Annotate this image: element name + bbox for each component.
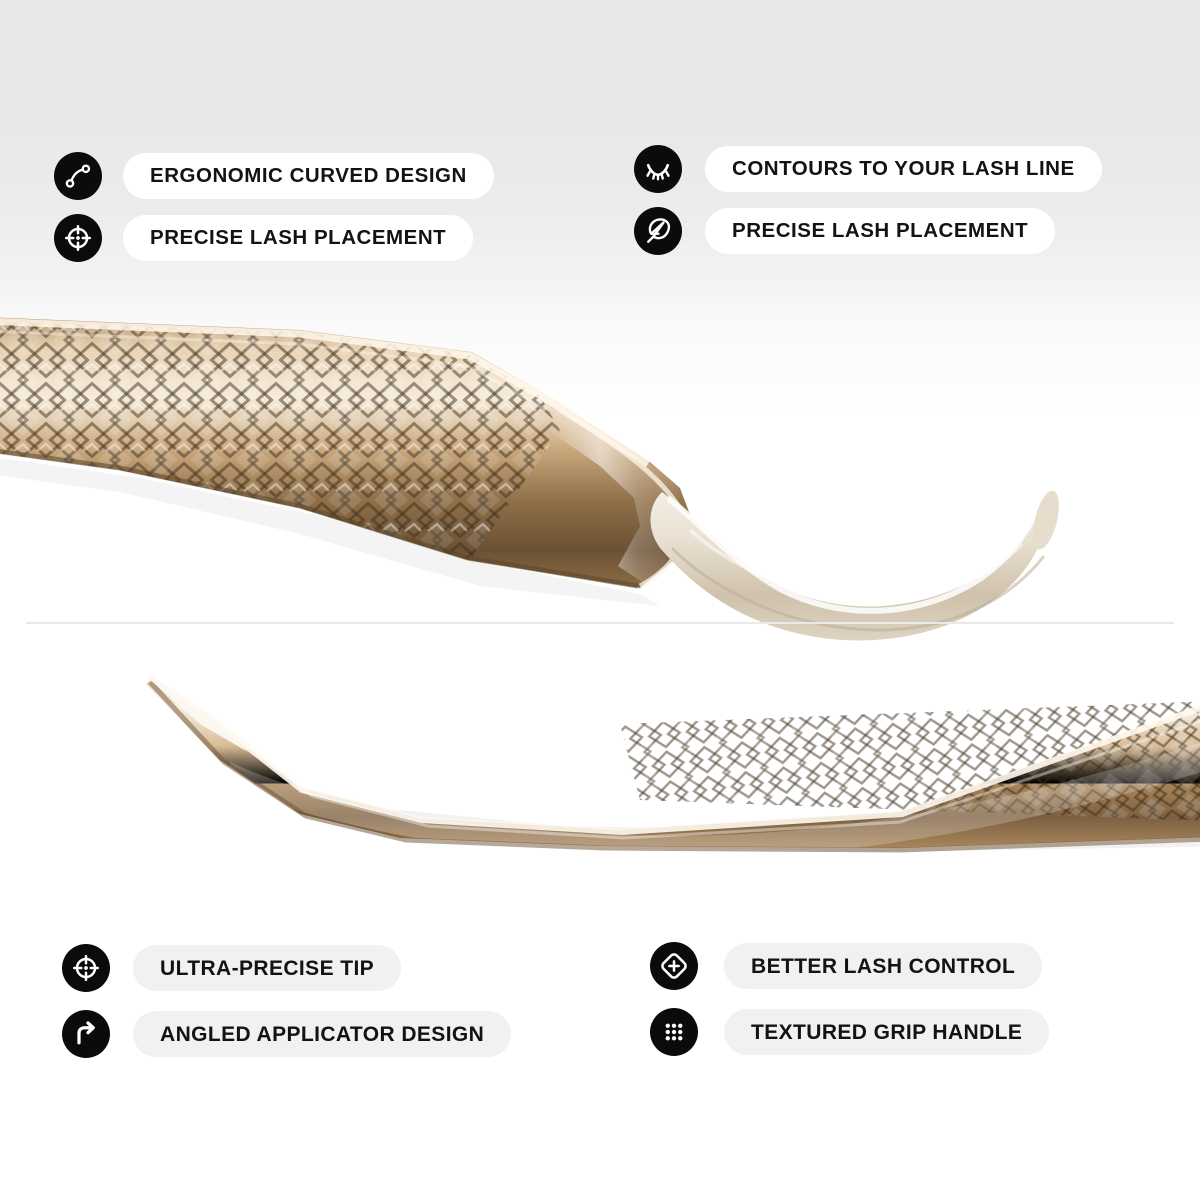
feature-pill[interactable]: BETTER LASH CONTROL (724, 943, 1042, 989)
feature-group-bottom-right: BETTER LASH CONTROL TEXTURED GRIP HANDLE (650, 942, 1049, 1056)
feature-label: ULTRA-PRECISE TIP (160, 958, 374, 979)
feature-row[interactable]: TEXTURED GRIP HANDLE (650, 1008, 1049, 1056)
feature-label: PRECISE LASH PLACEMENT (732, 221, 1028, 242)
feature-label: BETTER LASH CONTROL (751, 956, 1015, 977)
dot-grid-icon (650, 1008, 698, 1056)
feature-pill[interactable]: PRECISE LASH PLACEMENT (123, 215, 473, 261)
feature-row[interactable]: CONTOURS TO YOUR LASH LINE (634, 145, 1102, 193)
feature-label: TEXTURED GRIP HANDLE (751, 1022, 1022, 1043)
diamond-plus-icon (650, 942, 698, 990)
bezier-curve-icon (54, 152, 102, 200)
feature-pill[interactable]: ULTRA-PRECISE TIP (133, 945, 401, 991)
upper-tweezer-image (0, 310, 1064, 640)
feature-pill[interactable]: TEXTURED GRIP HANDLE (724, 1009, 1049, 1055)
lower-tweezer-image (146, 676, 1200, 860)
crosshair-target-icon (62, 944, 110, 992)
feature-label: CONTOURS TO YOUR LASH LINE (732, 159, 1075, 180)
feature-row[interactable]: ULTRA-PRECISE TIP (62, 944, 511, 992)
feature-group-bottom-left: ULTRA-PRECISE TIP ANGLED APPLICATOR DESI… (62, 944, 511, 1058)
feature-row[interactable]: ERGONOMIC CURVED DESIGN (54, 152, 494, 200)
product-feature-infographic: ERGONOMIC CURVED DESIGN PRECISE LASH PLA… (0, 0, 1200, 1200)
feature-pill[interactable]: ERGONOMIC CURVED DESIGN (123, 153, 494, 199)
feature-row[interactable]: PRECISE LASH PLACEMENT (634, 207, 1102, 255)
feature-pill[interactable]: PRECISE LASH PLACEMENT (705, 208, 1055, 254)
corner-arrow-right-icon (62, 1010, 110, 1058)
feature-group-top-right: CONTOURS TO YOUR LASH LINE PRECISE LASH … (634, 145, 1102, 255)
feather-icon (634, 207, 682, 255)
feature-label: ANGLED APPLICATOR DESIGN (160, 1024, 484, 1045)
feature-row[interactable]: ANGLED APPLICATOR DESIGN (62, 1010, 511, 1058)
feature-row[interactable]: PRECISE LASH PLACEMENT (54, 214, 494, 262)
feature-group-top-left: ERGONOMIC CURVED DESIGN PRECISE LASH PLA… (54, 152, 494, 262)
closed-eye-lashes-icon (634, 145, 682, 193)
section-divider (26, 622, 1174, 624)
feature-label: PRECISE LASH PLACEMENT (150, 228, 446, 249)
feature-row[interactable]: BETTER LASH CONTROL (650, 942, 1049, 990)
feature-pill[interactable]: CONTOURS TO YOUR LASH LINE (705, 146, 1102, 192)
feature-label: ERGONOMIC CURVED DESIGN (150, 166, 467, 187)
crosshair-target-icon (54, 214, 102, 262)
feature-pill[interactable]: ANGLED APPLICATOR DESIGN (133, 1011, 511, 1057)
